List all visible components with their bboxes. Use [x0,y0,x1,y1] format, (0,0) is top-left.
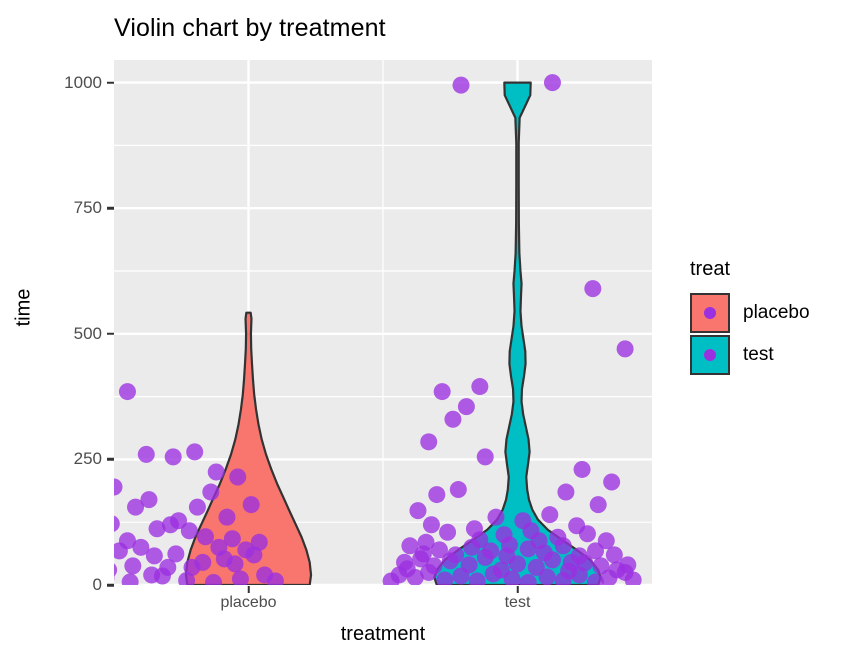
data-point [165,448,182,465]
data-point [423,516,440,533]
data-point [420,433,437,450]
data-point [453,77,470,94]
data-point [428,486,445,503]
data-point [541,506,558,523]
y-tick-mark [107,207,114,210]
data-point [159,559,176,576]
data-point [186,443,203,460]
data-point [453,567,470,584]
legend-swatch-placebo [690,293,730,333]
legend-label: placebo [743,302,810,324]
legend-point-icon [704,307,716,319]
data-point [539,568,556,585]
data-point [590,496,607,513]
y-tick-label: 250 [40,449,102,469]
data-point [243,496,260,513]
data-point [477,448,494,465]
data-point [442,552,459,569]
legend-label: test [743,344,774,366]
data-point [143,566,160,583]
legend-swatch-test [690,335,730,375]
data-point [420,564,437,581]
data-point [119,383,136,400]
y-tick-label: 0 [40,575,102,595]
y-tick-mark [107,333,114,336]
data-point [450,481,467,498]
x-tick-label-placebo: placebo [220,594,276,612]
data-point [439,524,456,541]
data-point [227,555,244,572]
legend-point-icon [704,349,716,361]
data-point [434,383,451,400]
data-point [229,468,246,485]
data-point [563,554,580,571]
y-tick-mark [107,458,114,461]
data-point [619,556,636,573]
y-tick-label: 1000 [40,73,102,93]
data-point [574,461,591,478]
data-point [544,74,561,91]
data-point [487,509,504,526]
violin-chart-figure: Violin chart by treatment time treatment… [0,0,864,672]
data-point [471,531,488,548]
data-point [557,484,574,501]
data-point [544,551,561,568]
legend: treat placebotest [690,258,810,376]
data-point [210,539,227,556]
data-point [485,565,502,582]
legend-title: treat [690,258,810,281]
data-point [458,398,475,415]
y-tick-mark [107,81,114,84]
data-point [162,516,179,533]
data-point [444,411,461,428]
data-point [124,557,141,574]
data-point [471,378,488,395]
data-point [197,528,214,545]
legend-entries: placebotest [690,292,810,376]
data-point [399,560,416,577]
chart-title: Violin chart by treatment [114,14,386,43]
data-point [127,499,144,516]
plot-canvas [114,60,652,585]
data-point [477,549,494,566]
data-point [181,522,198,539]
x-tick-mark [247,586,250,593]
data-point [555,537,572,554]
y-tick-mark [107,584,114,587]
data-point [415,545,432,562]
data-point [218,509,235,526]
x-tick-mark [516,586,519,593]
y-tick-label: 500 [40,324,102,344]
data-point [603,474,620,491]
legend-item-test[interactable]: test [690,334,810,376]
data-point [184,559,201,576]
data-point [606,546,623,563]
data-point [579,525,596,542]
data-point [409,502,426,519]
data-point [245,546,262,563]
data-point [189,499,206,516]
data-point [138,446,155,463]
data-point [202,484,219,501]
data-point [208,463,225,480]
data-point [132,539,149,556]
legend-item-placebo[interactable]: placebo [690,292,810,334]
x-axis-title: treatment [114,623,652,646]
x-tick-label-test: test [505,594,531,612]
plot-panel [114,60,652,585]
data-point [531,532,548,549]
data-point [498,547,515,564]
y-tick-label: 750 [40,198,102,218]
data-point [617,340,634,357]
data-point [584,280,601,297]
y-axis-title: time [13,278,36,338]
